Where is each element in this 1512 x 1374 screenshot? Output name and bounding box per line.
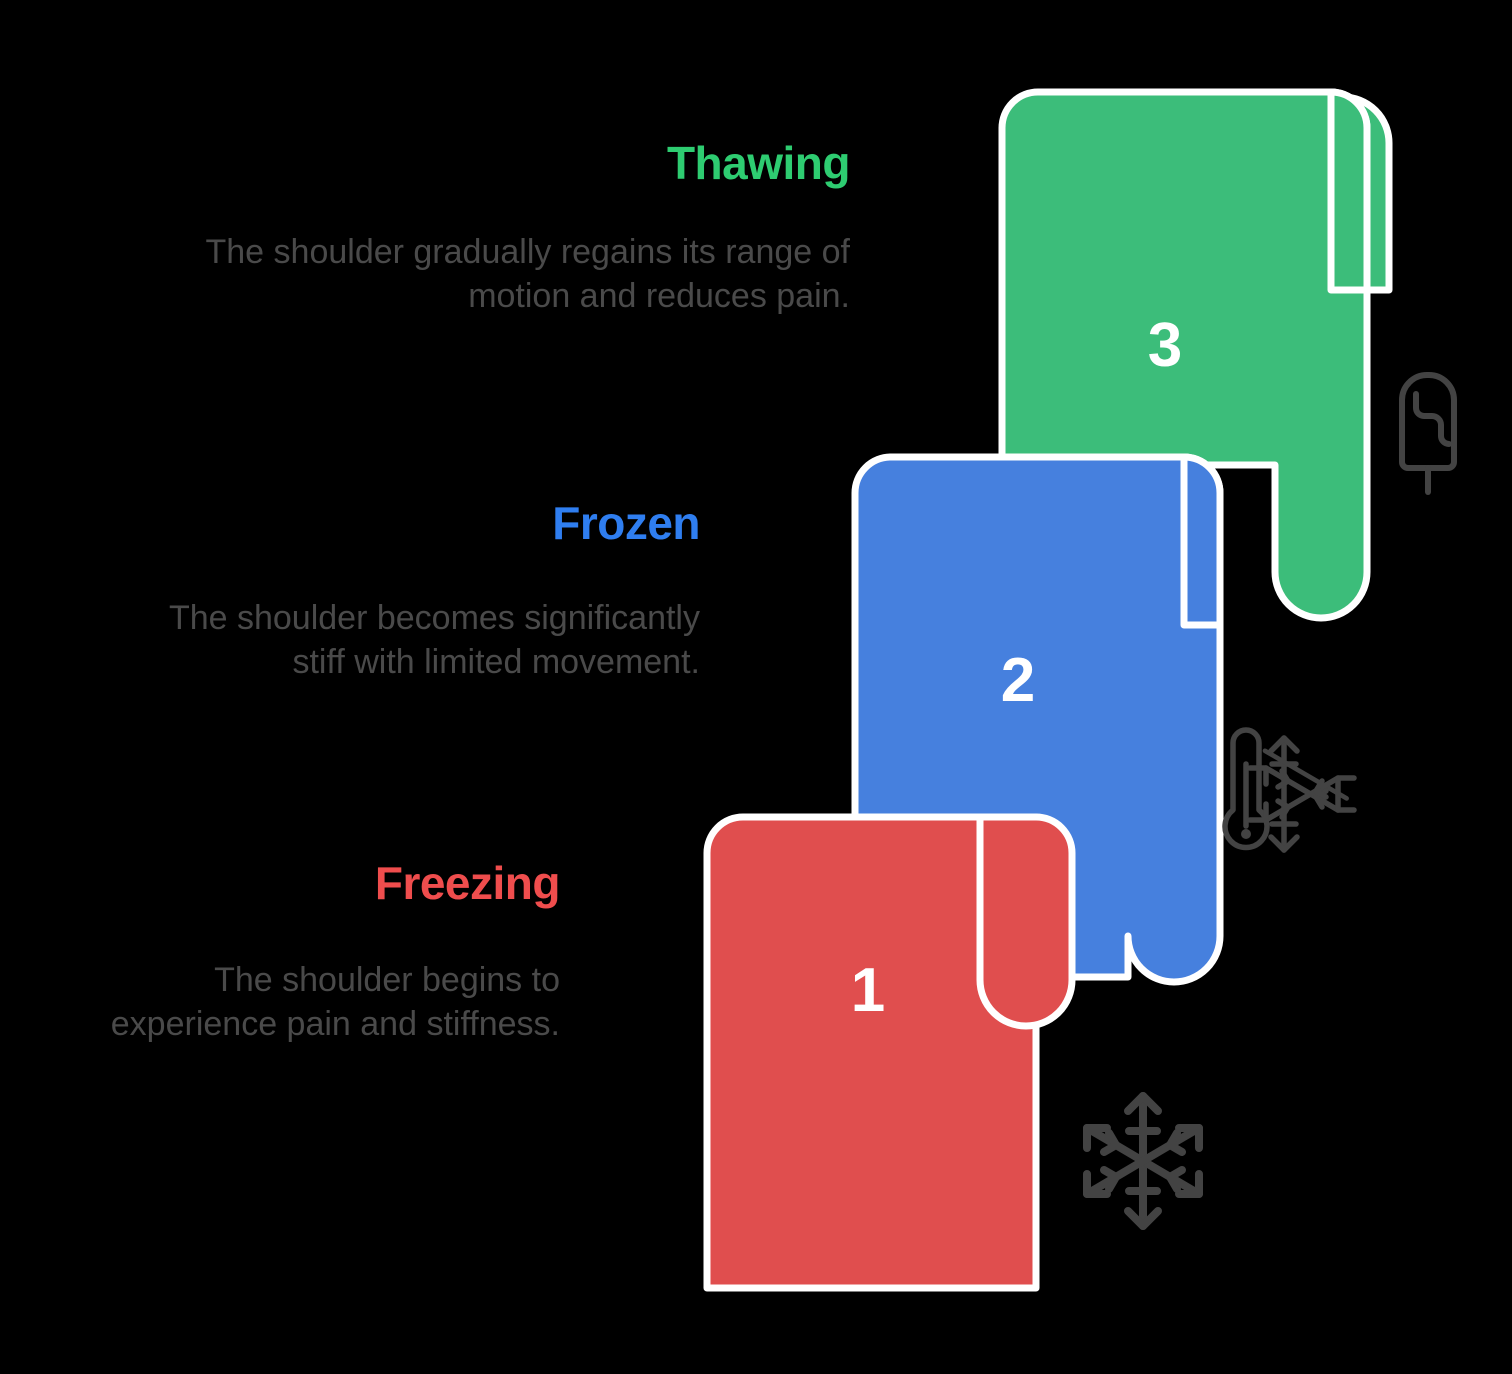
stage-title-thawing: Thawing	[120, 140, 850, 186]
stage-description-freezing: The shoulder begins to experience pain a…	[60, 958, 560, 1046]
stage-text-thawing: Thawing The shoulder gradually regains i…	[120, 140, 850, 318]
stage-title-frozen: Frozen	[120, 500, 700, 546]
stage-text-freezing: Freezing The shoulder begins to experien…	[60, 860, 560, 1046]
snowflake-icon	[1068, 1086, 1218, 1236]
freezing-ribbon-shape	[700, 810, 1120, 1300]
thermometer-snowflake-icon	[1216, 718, 1368, 870]
stage-number-3: 3	[995, 315, 1335, 377]
stage-number-2: 2	[848, 650, 1188, 712]
stage-number-1: 1	[700, 960, 1036, 1022]
stage-ribbon-freezing[interactable]: 1	[700, 810, 1120, 1300]
frozen-fold-crease	[1184, 457, 1220, 625]
popsicle-icon	[1382, 362, 1482, 497]
stage-description-frozen: The shoulder becomes significantly stiff…	[120, 596, 700, 684]
thawing-fold-crease	[1331, 92, 1367, 290]
infographic-canvas: 3 2 1 Thawing The shoulder gradually reg…	[0, 0, 1512, 1374]
stage-text-frozen: Frozen The shoulder becomes significantl…	[120, 500, 700, 684]
stage-description-thawing: The shoulder gradually regains its range…	[120, 230, 850, 318]
stage-title-freezing: Freezing	[60, 860, 560, 906]
